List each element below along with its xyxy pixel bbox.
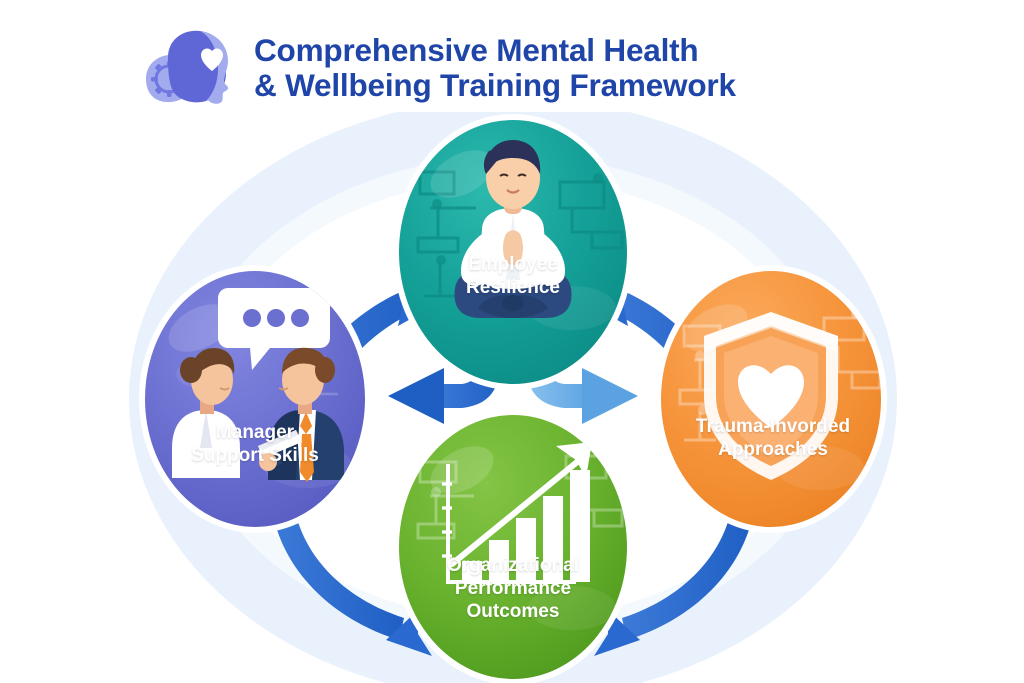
page-title-line-2: & Wellbeing Training Framework [254, 68, 736, 103]
head-heart-brain-icon [138, 27, 236, 109]
infographic-page: Comprehensive Mental Health & Wellbeing … [0, 0, 1024, 683]
page-title-line-1: Comprehensive Mental Health [254, 33, 736, 68]
page-header: Comprehensive Mental Health & Wellbeing … [138, 18, 898, 118]
cycle-diagram: Employee Resilience Trauma-Invorded Appr… [0, 112, 1024, 683]
node-organizational-performance-outcomes[interactable] [393, 409, 633, 683]
node-trauma-informed-approaches[interactable] [655, 265, 887, 533]
page-title: Comprehensive Mental Health & Wellbeing … [254, 33, 736, 104]
node-manager-support-skills[interactable] [139, 265, 371, 533]
node-employee-resilience[interactable] [393, 114, 633, 390]
